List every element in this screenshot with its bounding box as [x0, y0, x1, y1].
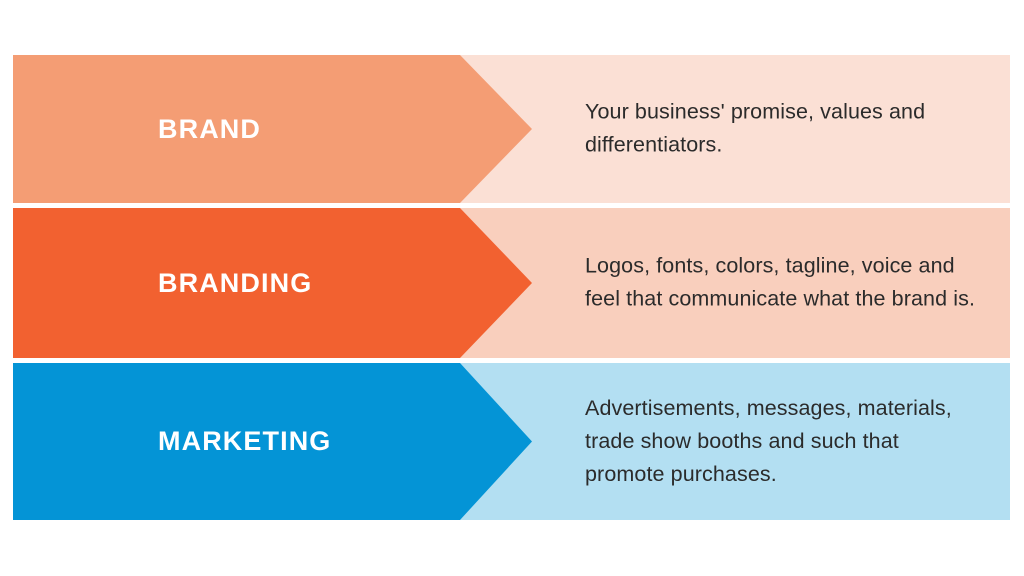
- diagram-row-marketing: MARKETING Advertisements, messages, mate…: [13, 363, 1010, 520]
- row-description-branding: Logos, fonts, colors, tagline, voice and…: [585, 250, 980, 317]
- row-description-marketing: Advertisements, messages, materials, tra…: [585, 392, 980, 492]
- chevron-arrow-marketing: MARKETING: [13, 363, 532, 520]
- diagram-row-branding: BRANDING Logos, fonts, colors, tagline, …: [13, 208, 1010, 358]
- chevron-diagram: BRAND Your business' promise, values and…: [13, 55, 1010, 520]
- chevron-label-brand: BRAND: [158, 116, 261, 143]
- diagram-row-brand: BRAND Your business' promise, values and…: [13, 55, 1010, 203]
- chevron-label-marketing: MARKETING: [158, 428, 331, 455]
- chevron-label-branding: BRANDING: [158, 270, 312, 297]
- chevron-arrow-brand: BRAND: [13, 55, 532, 203]
- row-description-brand: Your business' promise, values and diffe…: [585, 96, 980, 163]
- chevron-arrow-branding: BRANDING: [13, 208, 532, 358]
